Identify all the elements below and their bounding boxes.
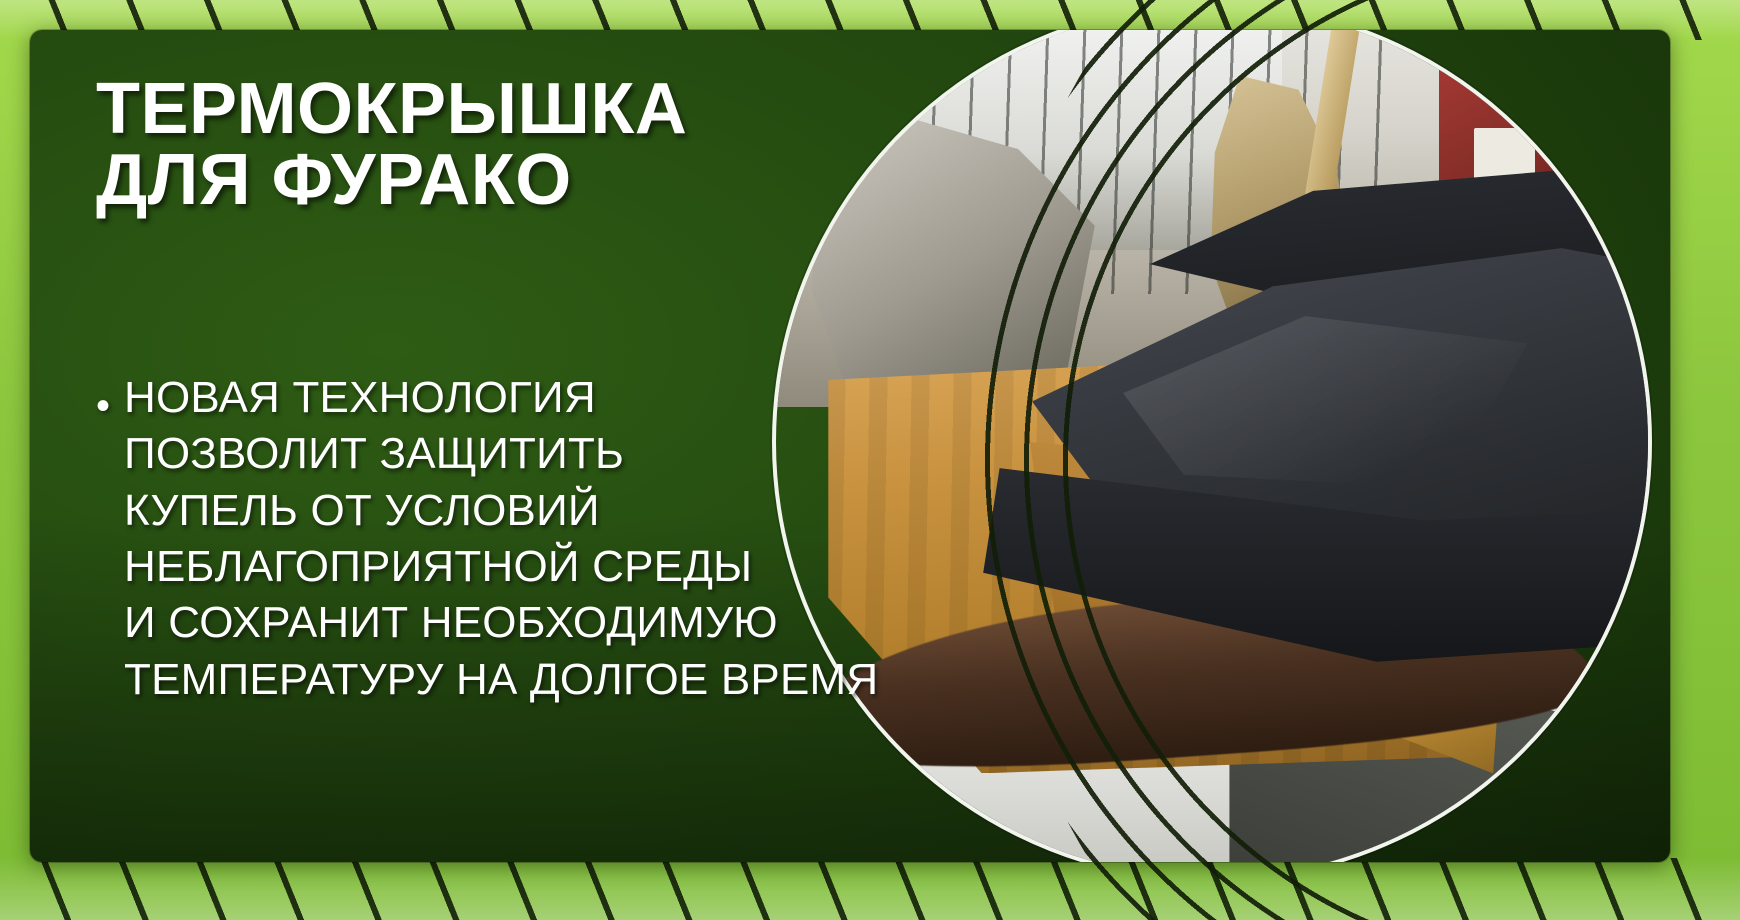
banner-title: ТЕРМОКРЫШКА ДЛЯ ФУРАКО: [96, 74, 976, 215]
text-column: ТЕРМОКРЫШКА ДЛЯ ФУРАКО: [96, 74, 976, 215]
frame-bottom-slash-pattern: [0, 858, 1740, 920]
inner-panel: ТЕРМОКРЫШКА ДЛЯ ФУРАКО • НОВАЯ ТЕХНОЛОГИ…: [30, 30, 1670, 862]
promo-banner: ТЕРМОКРЫШКА ДЛЯ ФУРАКО • НОВАЯ ТЕХНОЛОГИ…: [0, 0, 1740, 920]
frame-bottom-sheen: [0, 858, 1740, 920]
bullet-description: НОВАЯ ТЕХНОЛОГИЯ ПОЗВОЛИТ ЗАЩИТИТЬ КУПЕЛ…: [124, 370, 878, 708]
bullet-item: • НОВАЯ ТЕХНОЛОГИЯ ПОЗВОЛИТ ЗАЩИТИТЬ КУП…: [96, 370, 976, 708]
bullet-dot-icon: •: [96, 386, 110, 426]
